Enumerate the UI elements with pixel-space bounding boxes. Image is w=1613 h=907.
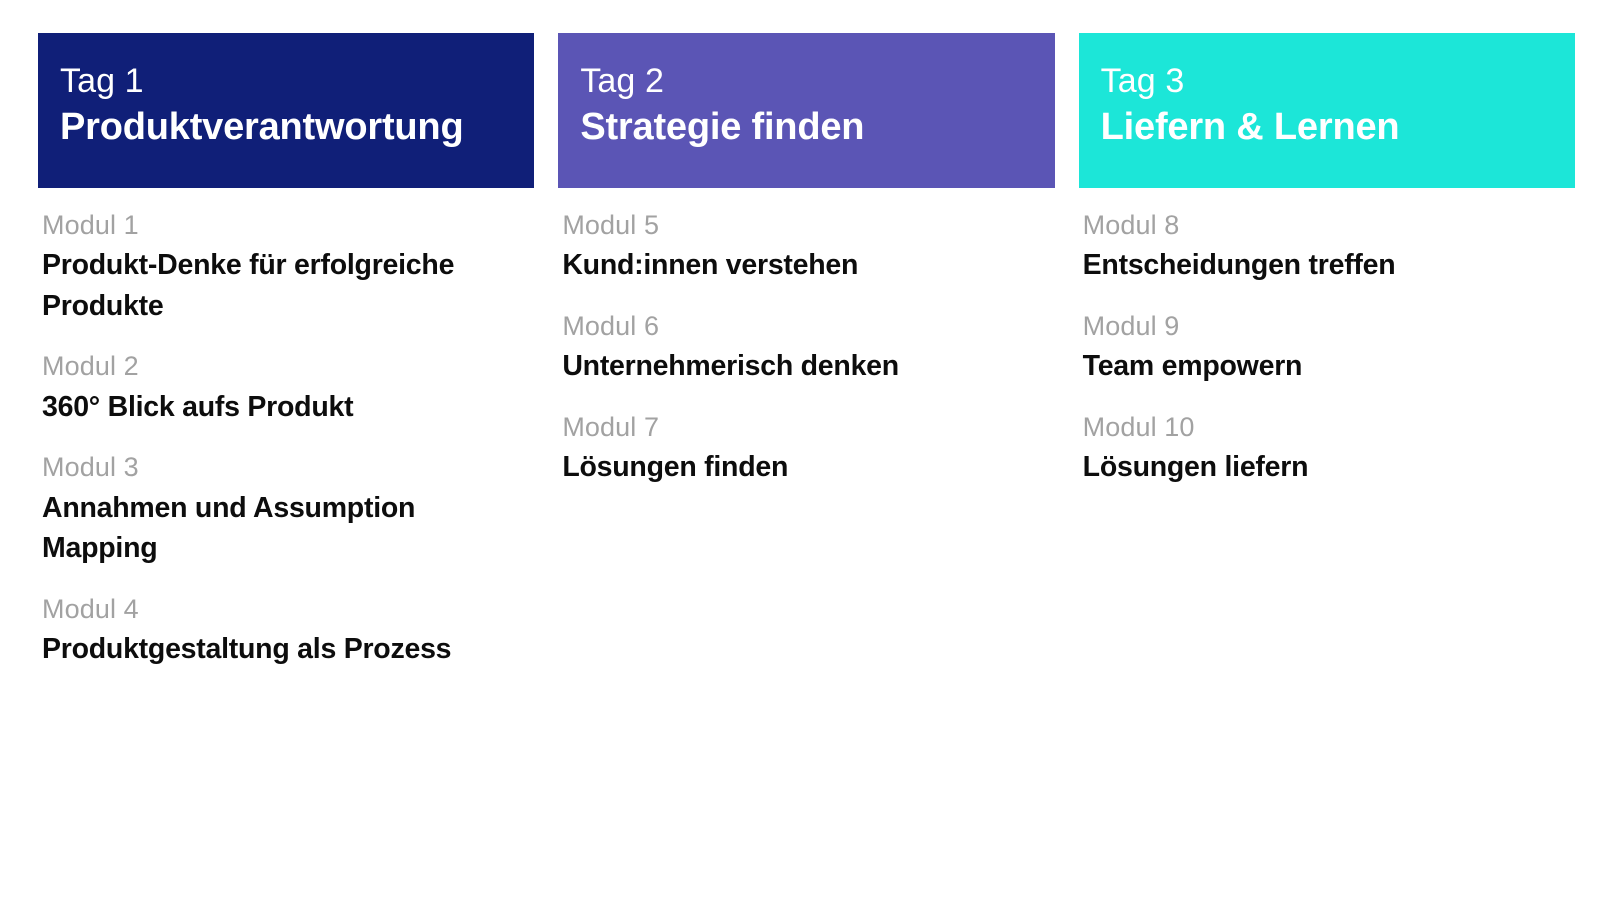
- module-number: Modul 10: [1083, 409, 1573, 445]
- modules-list-3: Modul 8 Entscheidungen treffen Modul 9 T…: [1079, 207, 1575, 488]
- day-header-title-1: Produktverantwortung: [60, 104, 512, 152]
- module-item: Modul 6 Unternehmerisch denken: [562, 308, 1052, 387]
- module-number: Modul 9: [1083, 308, 1573, 344]
- module-title: Annahmen und Assumption Mapping: [42, 488, 532, 569]
- module-number: Modul 2: [42, 348, 532, 384]
- module-number: Modul 1: [42, 207, 532, 243]
- module-item: Modul 5 Kund:innen verstehen: [562, 207, 1052, 286]
- curriculum-board: Tag 1 Produktverantwortung Modul 1 Produ…: [0, 0, 1613, 907]
- module-item: Modul 3 Annahmen und Assumption Mapping: [42, 449, 532, 568]
- day-header-2: Tag 2 Strategie finden: [558, 33, 1054, 188]
- module-item: Modul 2 360° Blick aufs Produkt: [42, 348, 532, 427]
- module-title: Lösungen finden: [562, 447, 1052, 487]
- module-item: Modul 9 Team empowern: [1083, 308, 1573, 387]
- module-title: 360° Blick aufs Produkt: [42, 387, 532, 427]
- module-number: Modul 4: [42, 591, 532, 627]
- module-item: Modul 1 Produkt-Denke für erfolgreiche P…: [42, 207, 532, 326]
- module-item: Modul 7 Lösungen finden: [562, 409, 1052, 488]
- day-header-eyebrow-3: Tag 3: [1101, 59, 1553, 103]
- day-column-1: Tag 1 Produktverantwortung Modul 1 Produ…: [38, 33, 534, 670]
- module-item: Modul 4 Produktgestaltung als Prozess: [42, 591, 532, 670]
- day-header-eyebrow-1: Tag 1: [60, 59, 512, 103]
- module-number: Modul 5: [562, 207, 1052, 243]
- day-header-eyebrow-2: Tag 2: [580, 59, 1032, 103]
- module-title: Entscheidungen treffen: [1083, 245, 1573, 285]
- modules-list-1: Modul 1 Produkt-Denke für erfolgreiche P…: [38, 207, 534, 670]
- module-number: Modul 8: [1083, 207, 1573, 243]
- modules-list-2: Modul 5 Kund:innen verstehen Modul 6 Unt…: [558, 207, 1054, 488]
- day-header-title-2: Strategie finden: [580, 104, 1032, 152]
- day-header-3: Tag 3 Liefern & Lernen: [1079, 33, 1575, 188]
- module-title: Unternehmerisch denken: [562, 346, 1052, 386]
- module-title: Kund:innen verstehen: [562, 245, 1052, 285]
- module-title: Produkt-Denke für erfolgreiche Produkte: [42, 245, 532, 326]
- module-item: Modul 8 Entscheidungen treffen: [1083, 207, 1573, 286]
- module-title: Team empowern: [1083, 346, 1573, 386]
- module-title: Produktgestaltung als Prozess: [42, 629, 532, 669]
- day-header-title-3: Liefern & Lernen: [1101, 104, 1553, 152]
- day-column-2: Tag 2 Strategie finden Modul 5 Kund:inne…: [558, 33, 1054, 488]
- day-column-3: Tag 3 Liefern & Lernen Modul 8 Entscheid…: [1079, 33, 1575, 488]
- day-header-1: Tag 1 Produktverantwortung: [38, 33, 534, 188]
- module-number: Modul 6: [562, 308, 1052, 344]
- module-number: Modul 7: [562, 409, 1052, 445]
- module-number: Modul 3: [42, 449, 532, 485]
- module-item: Modul 10 Lösungen liefern: [1083, 409, 1573, 488]
- module-title: Lösungen liefern: [1083, 447, 1573, 487]
